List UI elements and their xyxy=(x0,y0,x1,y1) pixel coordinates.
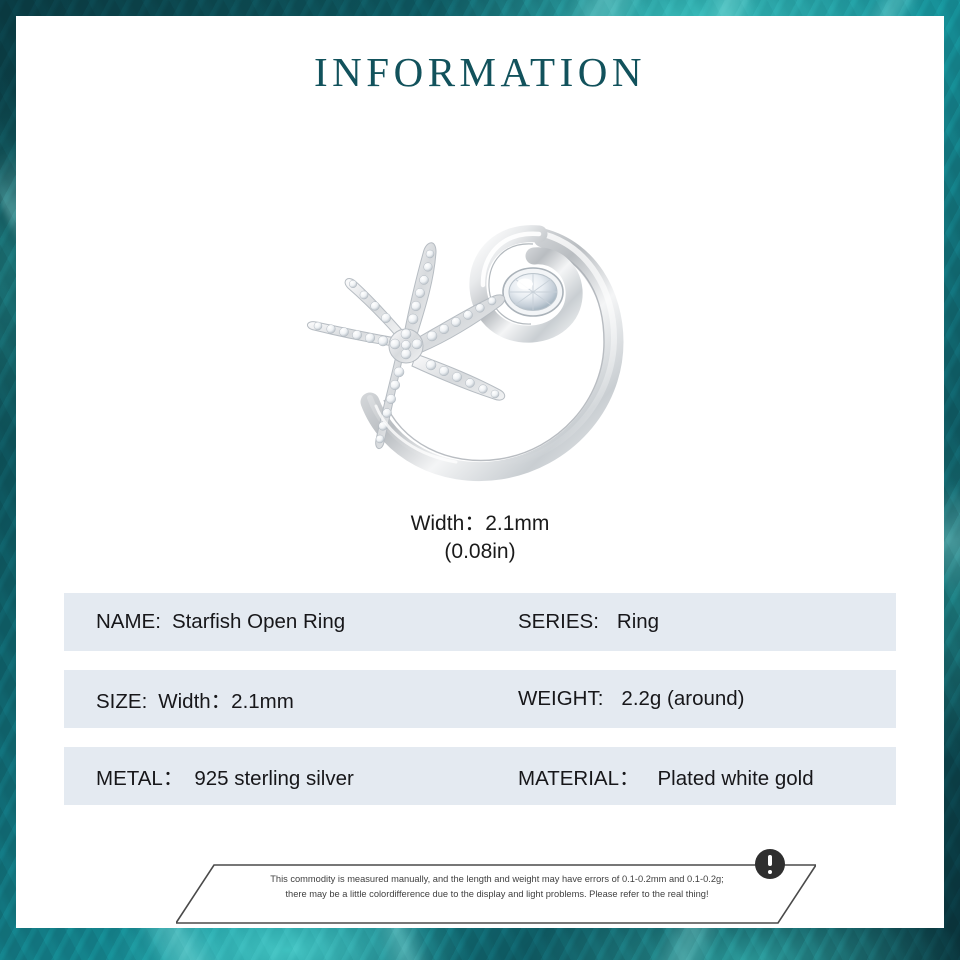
width-caption: Width：2.1mm (0.08in) xyxy=(16,510,944,566)
spec-cell-series: SERIES: Ring xyxy=(518,610,659,634)
disclaimer-box: This commodity is measured manually, and… xyxy=(176,859,816,929)
spec-cell-material: MATERIAL： Plated white gold xyxy=(518,761,814,791)
page-title: INFORMATION xyxy=(16,48,944,96)
disclaimer-line-2: there may be a little colordifference du… xyxy=(232,887,762,902)
spec-cell-size: SIZE: Width：2.1mm xyxy=(64,684,518,714)
spec-label-name: NAME: xyxy=(96,610,161,634)
spec-value-weight: 2.2g (around) xyxy=(621,687,744,711)
exclamation-glyph xyxy=(768,855,772,874)
spec-cell-name: NAME: Starfish Open Ring xyxy=(64,610,518,634)
table-row: METAL： 925 sterling silver MATERIAL： Pla… xyxy=(64,747,896,805)
spec-label-series: SERIES: xyxy=(518,610,599,634)
spec-value-metal: 925 sterling silver xyxy=(194,767,354,791)
width-caption-line-1: Width：2.1mm xyxy=(16,510,944,538)
disclaimer-text: This commodity is measured manually, and… xyxy=(232,872,762,901)
spec-cell-weight: WEIGHT: 2.2g (around) xyxy=(518,687,745,711)
disclaimer-line-1: This commodity is measured manually, and… xyxy=(232,872,762,887)
spec-value-size: Width：2.1mm xyxy=(158,684,294,714)
spec-value-series: Ring xyxy=(617,610,659,634)
spec-label-size: SIZE: xyxy=(96,690,147,714)
width-caption-line-2: (0.08in) xyxy=(16,538,944,566)
spec-label-material: MATERIAL： xyxy=(518,761,640,791)
spec-label-weight: WEIGHT: xyxy=(518,687,603,711)
product-image-starfish-open-ring xyxy=(296,184,666,504)
product-information-card: INFORMATION xyxy=(0,0,960,960)
specification-table: NAME: Starfish Open Ring SERIES: Ring SI… xyxy=(64,593,896,824)
spec-value-material: Plated white gold xyxy=(658,767,814,791)
spec-label-metal: METAL： xyxy=(96,761,183,791)
spec-cell-metal: METAL： 925 sterling silver xyxy=(64,761,518,791)
table-row: SIZE: Width：2.1mm WEIGHT: 2.2g (around) xyxy=(64,670,896,728)
content-card: INFORMATION xyxy=(16,16,944,928)
spec-value-name: Starfish Open Ring xyxy=(172,610,345,634)
warning-exclamation-icon xyxy=(755,849,785,879)
table-row: NAME: Starfish Open Ring SERIES: Ring xyxy=(64,593,896,651)
